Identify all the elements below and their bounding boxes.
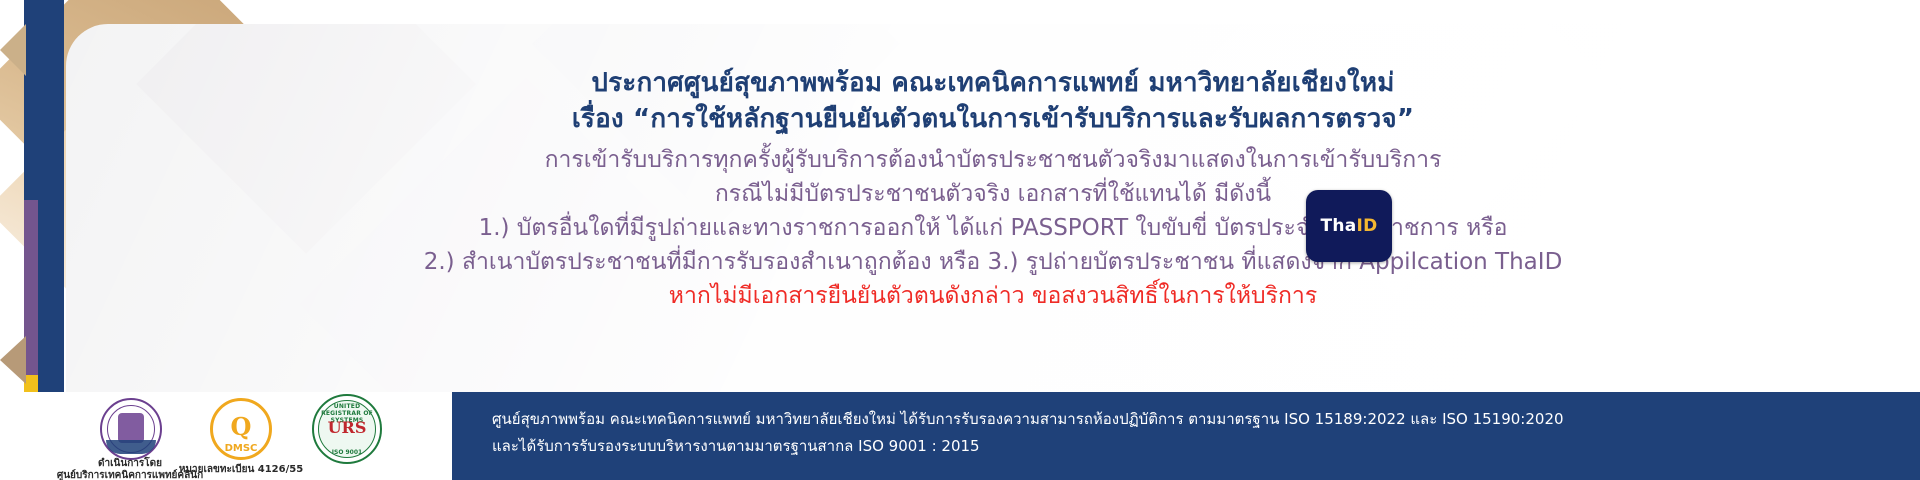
clinic-seal-icon [100, 398, 162, 460]
footer-bar-line1: ศูนย์สุขภาพพร้อม คณะเทคนิคการแพทย์ มหาวิ… [492, 406, 1564, 433]
clinic-seal-core [118, 413, 144, 443]
rail-segment-purple [24, 200, 38, 375]
body-line-item-1: 1.) บัตรอื่นใดที่มีรูปถ่ายและทางราชการออ… [66, 210, 1920, 246]
page-title-line2: เรื่อง “การใช้หลักฐานยืนยันตัวตนในการเข้… [66, 98, 1920, 139]
dmsc-q-letter: Q [213, 412, 269, 441]
footer-accreditation-logos: ดำเนินการโดย ศูนย์บริการเทคนิคการแพทย์คล… [40, 392, 360, 480]
announcement-content: ประกาศศูนย์สุขภาพพร้อม คณะเทคนิคการแพทย์… [66, 24, 1920, 392]
urs-certification-icon: UNITED REGISTRAR OF SYSTEMS URS ISO 9001 [312, 394, 382, 464]
rail-notch-lower-icon [0, 336, 26, 384]
urs-bottom-label: ISO 9001 [314, 449, 380, 456]
rail-notch-upper-icon [0, 24, 26, 76]
dmsc-sub-label: DMSC [213, 443, 269, 454]
thaid-logo-inner: ThaID [1306, 190, 1392, 262]
warning-text: หากไม่มีเอกสารยืนยันตัวตนดังกล่าว ขอสงวน… [66, 278, 1920, 314]
thaid-logo-id: ID [1357, 216, 1378, 236]
logo2-caption: หมายเลขทะเบียน 4126/55 [176, 462, 306, 477]
rail-navy-backdrop [38, 0, 64, 375]
body-line-item-2-3: 2.) สำเนาบัตรประชาชนที่มีการรับรองสำเนาถ… [66, 244, 1920, 280]
thaid-logo-tha: Tha [1320, 216, 1356, 236]
urs-letters: URS [314, 418, 380, 437]
page-title-line1: ประกาศศูนย์สุขภาพพร้อม คณะเทคนิคการแพทย์… [66, 62, 1920, 103]
thaid-app-logo: ThaID [1306, 190, 1392, 262]
rail-segment-blue [24, 0, 38, 200]
body-line-2: กรณีไม่มีบัตรประชาชนตัวจริง เอกสารที่ใช้… [66, 176, 1920, 212]
footer-bar-text: ศูนย์สุขภาพพร้อม คณะเทคนิคการแพทย์ มหาวิ… [492, 406, 1564, 460]
body-line-1: การเข้ารับบริการทุกครั้งผู้รับบริการต้อง… [66, 142, 1920, 178]
footer-accreditation-bar: ศูนย์สุขภาพพร้อม คณะเทคนิคการแพทย์ มหาวิ… [452, 392, 1920, 480]
thaid-logo-label: ThaID [1320, 216, 1377, 236]
dmsc-quality-icon: Q DMSC [210, 398, 272, 460]
clinic-seal-banner [106, 440, 156, 454]
footer: ดำเนินการโดย ศูนย์บริการเทคนิคการแพทย์คล… [0, 392, 1920, 480]
footer-bar-line2: และได้รับการรับรองระบบบริหารงานตามมาตรฐา… [492, 433, 1564, 460]
poster-canvas: ประกาศศูนย์สุขภาพพร้อม คณะเทคนิคการแพทย์… [0, 0, 1920, 480]
